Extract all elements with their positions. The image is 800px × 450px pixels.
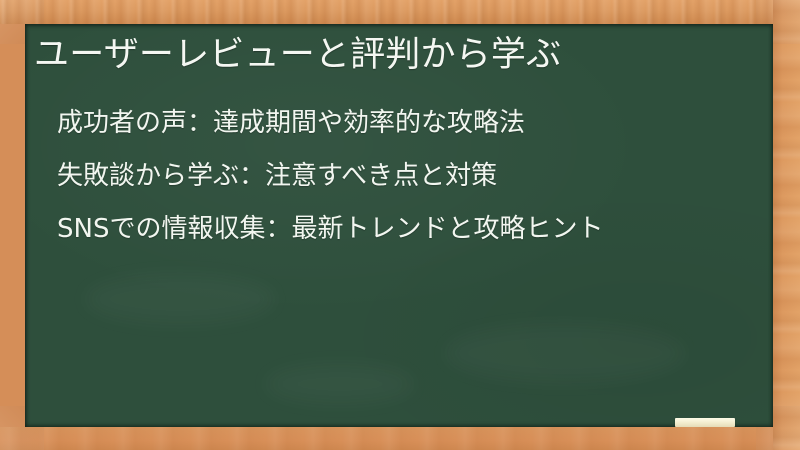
chalkboard-slide: ユーザーレビューと評判から学ぶ 成功者の声：達成期間や効率的な攻略法 失敗談から… [0,0,800,450]
chalk-stick-icon [675,418,735,427]
chalk-dust-smudge [265,364,415,404]
slide-bullet-item: 成功者の声：達成期間や効率的な攻略法 [57,110,755,136]
chalk-dust-smudge [85,274,275,324]
slide-bullet-item: 失敗談から学ぶ：注意すべき点と対策 [57,163,755,189]
slide-bullet-item: SNSでの情報収集：最新トレンドと攻略ヒント [57,216,755,242]
chalkboard-surface: ユーザーレビューと評判から学ぶ 成功者の声：達成期間や効率的な攻略法 失敗談から… [25,24,773,427]
chalk-dust-smudge [445,324,685,382]
slide-bullet-list: 成功者の声：達成期間や効率的な攻略法 失敗談から学ぶ：注意すべき点と対策 SNS… [57,110,755,269]
frame-left-plank [0,0,25,450]
slide-title: ユーザーレビューと評判から学ぶ [34,34,753,77]
frame-top-plank [0,0,800,24]
frame-right-plank [773,0,800,450]
frame-bottom-plank [0,427,800,450]
